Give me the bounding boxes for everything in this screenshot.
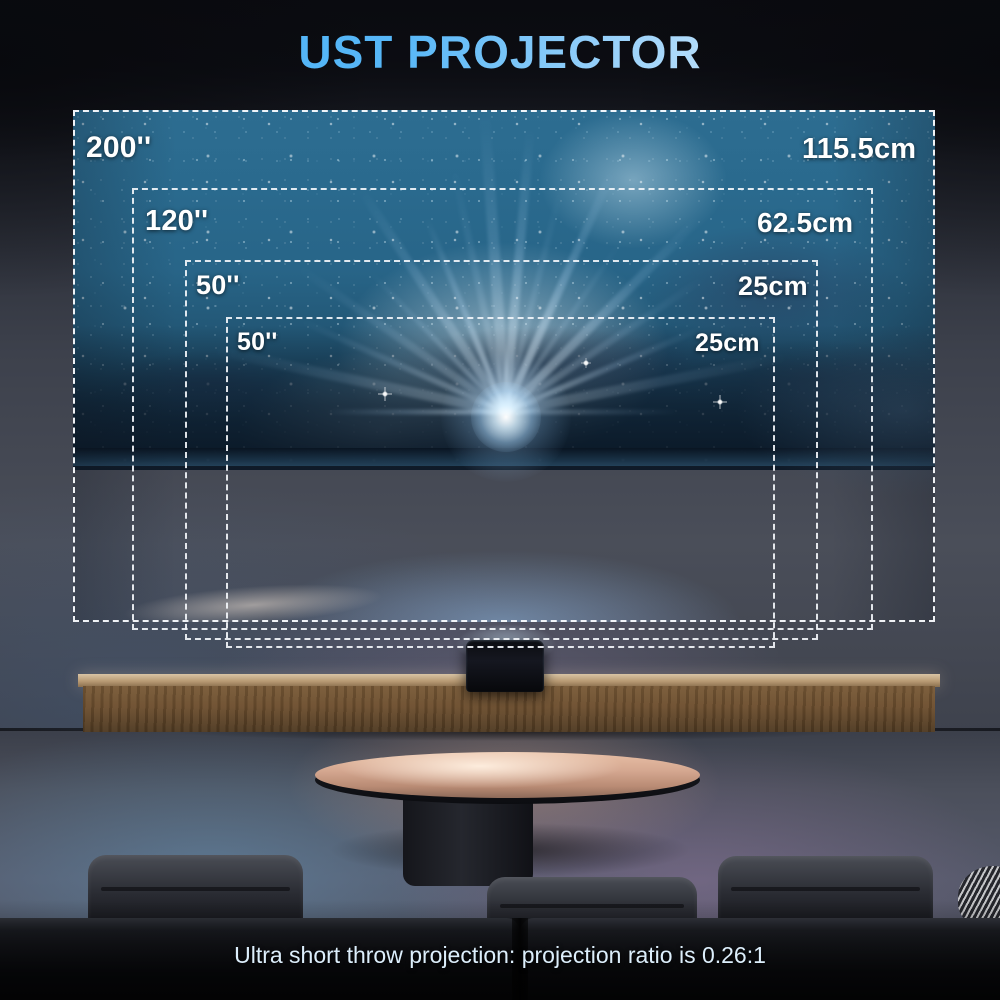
size-label-200in: 200'' xyxy=(86,131,151,165)
size-label-50in-outer: 50'' xyxy=(196,270,240,301)
console-front-panel xyxy=(83,686,935,732)
distance-label-62-5cm: 62.5cm xyxy=(757,207,853,239)
table-pedestal xyxy=(403,794,533,886)
product-infographic: 200'' 120'' 50'' 50'' 115.5cm 62.5cm 25c… xyxy=(0,0,1000,1000)
measure-box-50in-inner xyxy=(226,317,775,648)
coffee-table xyxy=(315,752,700,872)
size-label-120in: 120'' xyxy=(145,205,208,238)
table-top-surface xyxy=(315,752,700,798)
distance-label-25cm-outer: 25cm xyxy=(738,271,808,302)
distance-label-115-5cm: 115.5cm xyxy=(802,133,916,166)
distance-label-25cm-inner: 25cm xyxy=(695,329,760,358)
size-label-50in-inner: 50'' xyxy=(237,328,278,357)
caption-text: Ultra short throw projection: projection… xyxy=(0,942,1000,969)
page-title: UST PROJECTOR xyxy=(0,25,1000,79)
